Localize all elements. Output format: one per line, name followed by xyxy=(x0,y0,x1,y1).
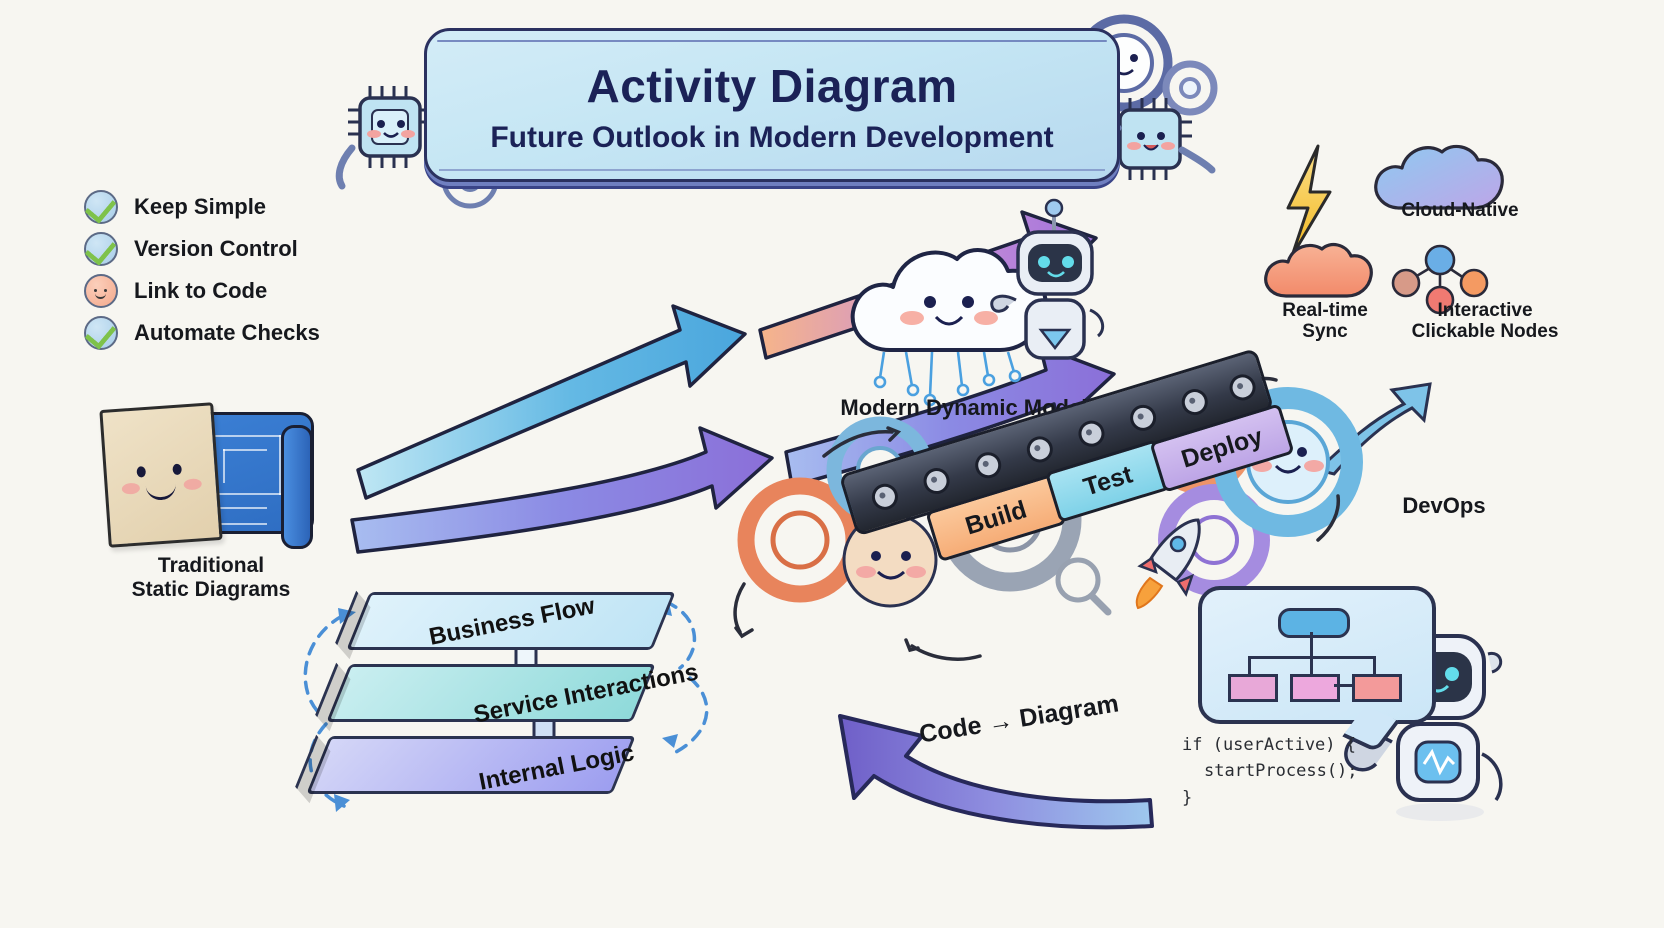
speech-bubble-flowchart-icon xyxy=(1198,586,1436,724)
best-practices-checklist: Keep Simple Version Control Link to Code… xyxy=(84,186,384,354)
traditional-caption: Traditional Static Diagrams xyxy=(86,554,336,601)
page-title: Activity Diagram xyxy=(427,59,1117,113)
legend-label-interactive-2: Clickable Nodes xyxy=(1370,321,1600,342)
robot-mascot-icon xyxy=(992,200,1103,358)
check-circle-icon xyxy=(84,232,118,266)
smiley-pointer-icon xyxy=(84,274,118,308)
check-circle-icon xyxy=(84,316,118,350)
checklist-item-label: Link to Code xyxy=(134,278,267,304)
pipeline-stage-label: Test xyxy=(1080,460,1136,502)
title-banner: Activity Diagram Future Outlook in Moder… xyxy=(424,28,1120,182)
code-snippet: if (userActive) { startProcess(); } xyxy=(1182,732,1442,811)
cloud-orange-icon xyxy=(1266,245,1372,296)
smiling-paper-icon xyxy=(99,402,222,548)
code-to-diagram-group: Code → Diagram xyxy=(826,676,1166,816)
cloud-gradient-icon xyxy=(1376,146,1503,208)
legend-item-interactive-nodes[interactable]: Interactive Clickable Nodes xyxy=(1370,300,1600,343)
architecture-layers-stack: Business Flow Service Interactions Inter… xyxy=(306,570,706,870)
checklist-item-label: Keep Simple xyxy=(134,194,266,220)
checklist-item-keep-simple[interactable]: Keep Simple xyxy=(84,186,384,228)
lightning-bolt-icon xyxy=(1288,146,1330,256)
code-line-2: startProcess(); xyxy=(1182,758,1442,784)
code-line-3: } xyxy=(1182,785,1442,811)
traditional-caption-line2: Static Diagrams xyxy=(86,578,336,602)
illustration-canvas: Activity Diagram Future Outlook in Moder… xyxy=(0,0,1664,928)
checklist-item-label: Version Control xyxy=(134,236,298,262)
check-circle-icon xyxy=(84,190,118,224)
legend-label-cloud-native: Cloud-Native xyxy=(1370,200,1550,221)
pipeline-stage-label: Build xyxy=(962,495,1030,541)
checklist-item-link-to-code[interactable]: Link to Code xyxy=(84,270,384,312)
traditional-caption-line1: Traditional xyxy=(86,554,336,578)
legend-item-cloud-native[interactable]: Cloud-Native xyxy=(1370,200,1550,221)
code-to-diagram-caption: Code → Diagram xyxy=(917,683,1158,748)
page-subtitle: Future Outlook in Modern Development xyxy=(427,121,1117,155)
legend-label-interactive-1: Interactive xyxy=(1370,300,1600,321)
checklist-item-version-control[interactable]: Version Control xyxy=(84,228,384,270)
devops-caption: DevOps xyxy=(1374,494,1514,519)
checklist-item-label: Automate Checks xyxy=(134,320,320,346)
pipeline-stage-label: Deploy xyxy=(1178,422,1266,474)
code-line-1: if (userActive) { xyxy=(1182,732,1442,758)
checklist-item-automate-checks[interactable]: Automate Checks xyxy=(84,312,384,354)
